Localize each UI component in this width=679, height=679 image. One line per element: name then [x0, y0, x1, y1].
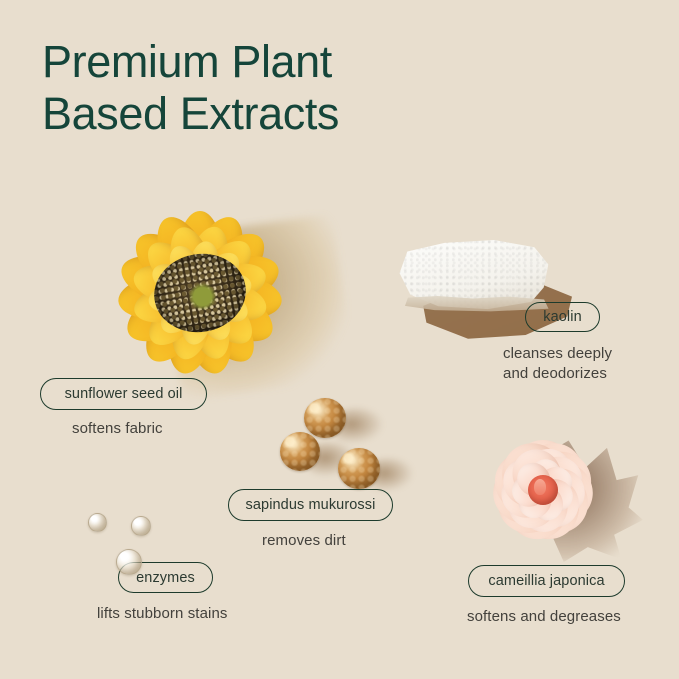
soap-nut-berry: [338, 448, 380, 489]
label-pill-sunflower-seed-oil: sunflower seed oil: [40, 378, 207, 410]
camellia-center: [528, 475, 558, 505]
label-pill-kaolin: kaolin: [525, 302, 600, 332]
caption-sunflower-seed-oil: softens fabric: [72, 419, 163, 439]
infographic-poster: Premium Plant Based Extracts sunflower s…: [0, 0, 679, 679]
enzyme-bead: [88, 513, 107, 532]
kaolin-clay-image: [398, 240, 598, 350]
caption-cameillia-japonica: softens and degreases: [467, 607, 621, 627]
camellia-flower-image: [445, 410, 640, 570]
caption-enzymes: lifts stubborn stains: [97, 604, 228, 624]
label-pill-cameillia-japonica: cameillia japonica: [468, 565, 625, 597]
soap-nut-berries-image: [280, 392, 400, 492]
enzyme-bead: [116, 549, 142, 575]
sunflower-image: [75, 185, 325, 400]
caption-sapindus-mukurossi: removes dirt: [262, 531, 346, 551]
soap-nut-berry: [304, 398, 346, 438]
page-title: Premium Plant Based Extracts: [42, 36, 602, 140]
soap-nut-berry: [280, 432, 320, 471]
caption-kaolin: cleanses deeply and deodorizes: [503, 344, 612, 384]
enzyme-bead: [131, 516, 151, 536]
label-pill-sapindus-mukurossi: sapindus mukurossi: [228, 489, 393, 521]
